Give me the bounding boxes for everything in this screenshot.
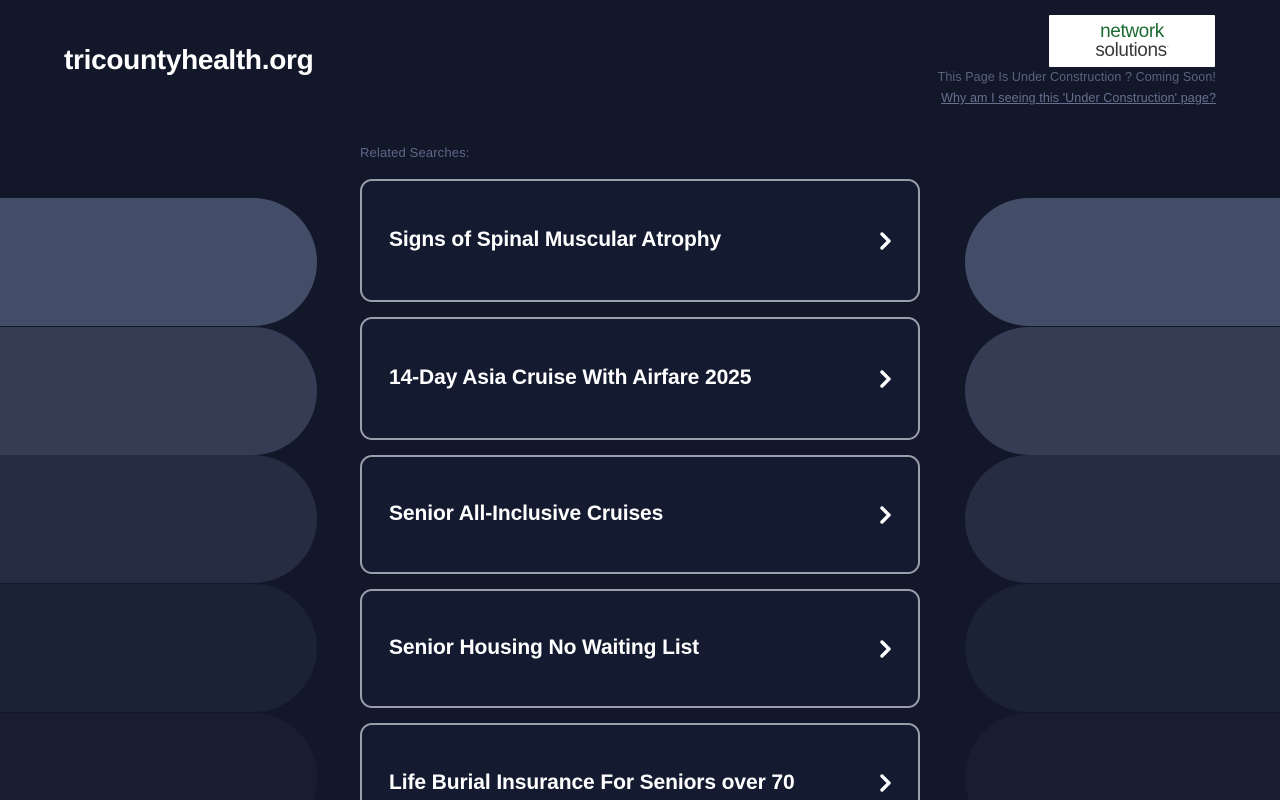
decorative-pill xyxy=(0,198,317,326)
decorative-pill xyxy=(0,455,317,583)
decorative-pill xyxy=(965,455,1280,583)
related-search-card[interactable]: Senior All-Inclusive Cruises xyxy=(360,455,920,574)
related-search-card[interactable]: Signs of Spinal Muscular Atrophy xyxy=(360,179,920,302)
page-header: tricountyhealth.org network solutions· T… xyxy=(0,0,1280,120)
chevron-right-icon xyxy=(876,366,896,392)
decorative-pill xyxy=(965,327,1280,455)
logo-text-solutions: solutions· xyxy=(1095,41,1168,60)
main-column: Related Searches: Signs of Spinal Muscul… xyxy=(360,145,920,800)
related-search-card[interactable]: 14-Day Asia Cruise With Airfare 2025 xyxy=(360,317,920,440)
site-title: tricountyhealth.org xyxy=(64,44,313,76)
decorative-pill xyxy=(965,713,1280,800)
network-solutions-logo: network solutions· xyxy=(1049,15,1215,67)
related-searches-label: Related Searches: xyxy=(360,145,920,160)
chevron-right-icon xyxy=(876,636,896,662)
related-search-label: Senior Housing No Waiting List xyxy=(389,634,876,663)
decorative-pill xyxy=(965,198,1280,326)
related-search-label: Signs of Spinal Muscular Atrophy xyxy=(389,226,876,255)
logo-text-network: network xyxy=(1100,22,1164,41)
related-search-label: Senior All-Inclusive Cruises xyxy=(389,500,876,529)
related-search-card[interactable]: Senior Housing No Waiting List xyxy=(360,589,920,708)
logo-solutions-word: solutions xyxy=(1095,40,1166,61)
construction-help-link[interactable]: Why am I seeing this 'Under Construction… xyxy=(941,91,1216,105)
related-search-label: 14-Day Asia Cruise With Airfare 2025 xyxy=(389,364,876,393)
decorative-pill xyxy=(965,584,1280,712)
registered-mark-icon: · xyxy=(1167,44,1169,51)
construction-notice: This Page Is Under Construction ? Coming… xyxy=(938,70,1216,84)
related-search-card[interactable]: Life Burial Insurance For Seniors over 7… xyxy=(360,723,920,800)
related-searches-list: Signs of Spinal Muscular Atrophy14-Day A… xyxy=(360,179,920,800)
decorative-pill xyxy=(0,713,317,800)
decorative-pill xyxy=(0,327,317,455)
chevron-right-icon xyxy=(876,228,896,254)
chevron-right-icon xyxy=(876,502,896,528)
decorative-pill xyxy=(0,584,317,712)
chevron-right-icon xyxy=(876,770,896,796)
related-search-label: Life Burial Insurance For Seniors over 7… xyxy=(389,769,876,798)
